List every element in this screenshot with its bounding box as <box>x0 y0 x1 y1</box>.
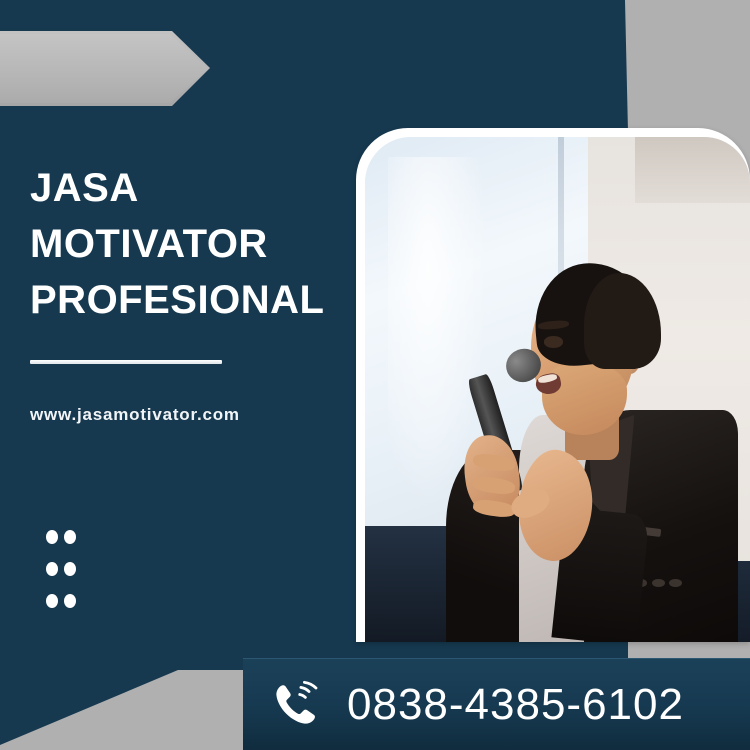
arrow-banner <box>0 34 208 103</box>
photo-eye <box>544 336 563 347</box>
dot <box>64 562 76 576</box>
photo-card <box>356 128 750 642</box>
phone-ringing-icon <box>271 680 323 730</box>
website-url: www.jasamotivator.com <box>30 405 240 425</box>
photo-jacket-button <box>669 579 682 587</box>
dot <box>46 594 58 608</box>
dot <box>64 530 76 544</box>
contact-bar[interactable]: 0838-4385-6102 <box>243 658 750 750</box>
dot <box>64 594 76 608</box>
dot <box>46 562 58 576</box>
speaker-photo <box>365 137 750 642</box>
headline-line-2: MOTIVATOR <box>30 216 360 272</box>
divider <box>30 360 222 364</box>
headline-line-1: JASA <box>30 160 360 216</box>
poster-canvas: JASA MOTIVATOR PROFESIONAL www.jasamotiv… <box>0 0 750 750</box>
page-title: JASA MOTIVATOR PROFESIONAL <box>30 160 360 328</box>
dot-grid-decoration <box>46 530 82 626</box>
photo-hair-side <box>584 273 661 369</box>
headline-line-3: PROFESIONAL <box>30 272 360 328</box>
phone-number: 0838-4385-6102 <box>347 683 684 727</box>
photo-person <box>365 137 750 642</box>
photo-jacket-button <box>652 579 665 587</box>
dot <box>46 530 58 544</box>
